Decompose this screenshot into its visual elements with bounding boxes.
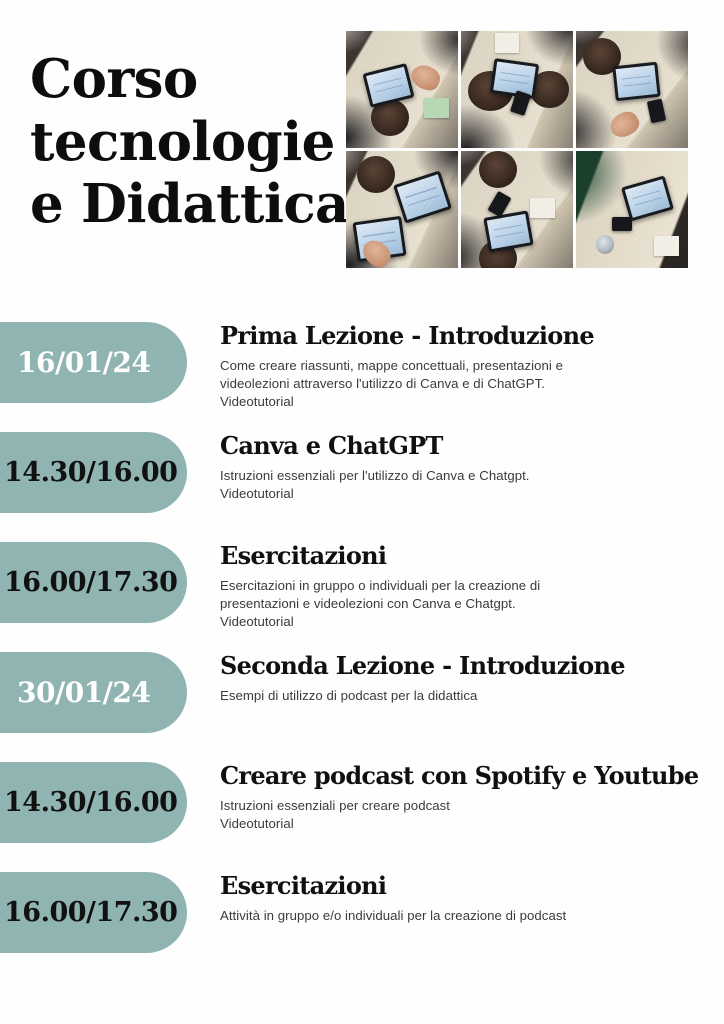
photo-grain bbox=[346, 151, 458, 268]
page-title-line-2: tecnologie bbox=[30, 111, 330, 174]
schedule-row-body: Seconda Lezione - Introduzione Esempi di… bbox=[220, 652, 704, 705]
schedule-badge-label: 30/01/24 bbox=[0, 679, 150, 707]
schedule-row-body: Esercitazioni Attività in gruppo e/o ind… bbox=[220, 872, 704, 925]
photo-grain bbox=[461, 151, 573, 268]
schedule-badge-time: 14.30/16.00 bbox=[0, 762, 187, 843]
description-line: Videotutorial bbox=[220, 613, 704, 631]
page-title-line-3: e Didattica bbox=[30, 173, 330, 236]
schedule-badge-label: 16/01/24 bbox=[0, 349, 150, 377]
schedule-row-title: Prima Lezione - Introduzione bbox=[220, 322, 704, 350]
photo-grain bbox=[576, 31, 688, 148]
description-line: Videotutorial bbox=[220, 485, 704, 503]
photo-grid bbox=[346, 31, 688, 268]
schedule-row-body: Esercitazioni Esercitazioni in gruppo o … bbox=[220, 542, 704, 631]
schedule-row-title: Seconda Lezione - Introduzione bbox=[220, 652, 704, 680]
description-line: Videotutorial bbox=[220, 393, 704, 411]
description-line: Videotutorial bbox=[220, 815, 704, 833]
schedule-row-body: Creare podcast con Spotify e Youtube Ist… bbox=[220, 762, 704, 833]
schedule-row-description: Attività in gruppo e/o individuali per l… bbox=[220, 907, 704, 925]
photo-grain bbox=[461, 31, 573, 148]
photo-cell-2 bbox=[461, 31, 573, 148]
schedule-badge-time: 14.30/16.00 bbox=[0, 432, 187, 513]
schedule-badge-label: 14.30/16.00 bbox=[0, 789, 177, 816]
schedule-row-6: 16.00/17.30 Esercitazioni Attività in gr… bbox=[0, 872, 724, 982]
schedule-row-1: 16/01/24 Prima Lezione - Introduzione Co… bbox=[0, 322, 724, 432]
schedule-row-body: Canva e ChatGPT Istruzioni essenziali pe… bbox=[220, 432, 704, 503]
schedule-row-4: 30/01/24 Seconda Lezione - Introduzione … bbox=[0, 652, 724, 762]
photo-cell-6 bbox=[576, 151, 688, 268]
schedule-badge-time: 16.00/17.30 bbox=[0, 542, 187, 623]
course-poster: Corso tecnologie e Didattica bbox=[0, 0, 724, 1024]
schedule-row-5: 14.30/16.00 Creare podcast con Spotify e… bbox=[0, 762, 724, 872]
description-line: Esempi di utilizzo di podcast per la did… bbox=[220, 687, 704, 705]
schedule-badge-date: 30/01/24 bbox=[0, 652, 187, 733]
schedule-row-description: Esercitazioni in gruppo o individuali pe… bbox=[220, 577, 704, 631]
description-line: Attività in gruppo e/o individuali per l… bbox=[220, 907, 704, 925]
photo-cell-5 bbox=[461, 151, 573, 268]
description-line: Istruzioni essenziali per creare podcast bbox=[220, 797, 704, 815]
schedule-row-3: 16.00/17.30 Esercitazioni Esercitazioni … bbox=[0, 542, 724, 652]
schedule-badge-time: 16.00/17.30 bbox=[0, 872, 187, 953]
description-line: presentazioni e videolezioni con Canva e… bbox=[220, 595, 704, 613]
page-title-line-1: Corso bbox=[30, 48, 330, 111]
schedule-row-description: Istruzioni essenziali per creare podcast… bbox=[220, 797, 704, 833]
schedule-badge-date: 16/01/24 bbox=[0, 322, 187, 403]
photo-grain bbox=[346, 31, 458, 148]
schedule-row-title: Canva e ChatGPT bbox=[220, 432, 704, 460]
schedule-list: 16/01/24 Prima Lezione - Introduzione Co… bbox=[0, 322, 724, 982]
photo-cell-3 bbox=[576, 31, 688, 148]
schedule-badge-label: 14.30/16.00 bbox=[0, 459, 177, 486]
description-line: Istruzioni essenziali per l'utilizzo di … bbox=[220, 467, 704, 485]
schedule-row-description: Esempi di utilizzo di podcast per la did… bbox=[220, 687, 704, 705]
schedule-badge-label: 16.00/17.30 bbox=[0, 569, 177, 596]
schedule-row-title: Creare podcast con Spotify e Youtube bbox=[220, 762, 704, 790]
page-title: Corso tecnologie e Didattica bbox=[30, 48, 330, 236]
schedule-row-title: Esercitazioni bbox=[220, 542, 704, 570]
photo-grain bbox=[576, 151, 688, 268]
schedule-row-2: 14.30/16.00 Canva e ChatGPT Istruzioni e… bbox=[0, 432, 724, 542]
schedule-row-title: Esercitazioni bbox=[220, 872, 704, 900]
schedule-badge-label: 16.00/17.30 bbox=[0, 899, 177, 926]
description-line: videolezioni attraverso l'utilizzo di Ca… bbox=[220, 375, 704, 393]
photo-cell-4 bbox=[346, 151, 458, 268]
description-line: Come creare riassunti, mappe concettuali… bbox=[220, 357, 704, 375]
title-block: Corso tecnologie e Didattica bbox=[30, 48, 330, 236]
photo-cell-1 bbox=[346, 31, 458, 148]
schedule-row-description: Istruzioni essenziali per l'utilizzo di … bbox=[220, 467, 704, 503]
schedule-row-body: Prima Lezione - Introduzione Come creare… bbox=[220, 322, 704, 411]
schedule-row-description: Come creare riassunti, mappe concettuali… bbox=[220, 357, 704, 411]
description-line: Esercitazioni in gruppo o individuali pe… bbox=[220, 577, 704, 595]
